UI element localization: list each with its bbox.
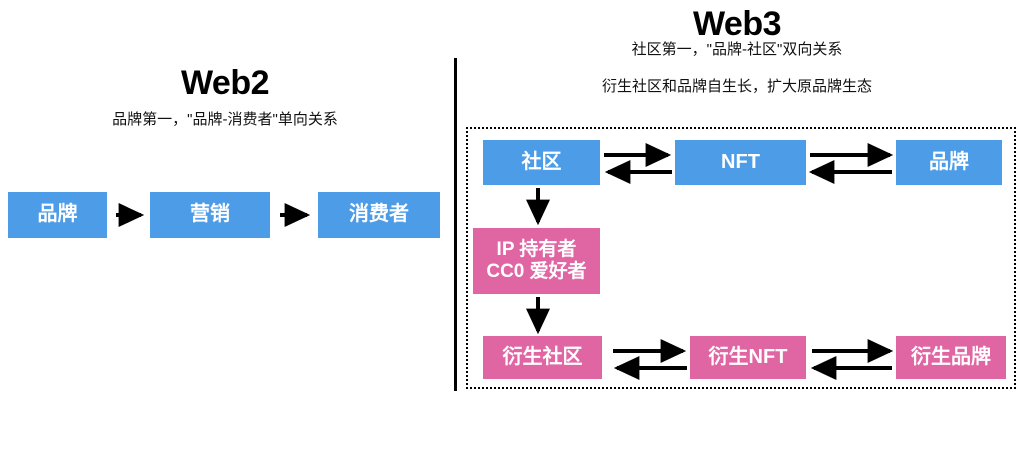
web3-node-community-label: 社区 [522, 151, 562, 175]
web3-node-brand[interactable]: 品牌 [896, 140, 1002, 185]
web3-node-derivative-nft[interactable]: 衍生NFT [690, 336, 806, 379]
web2-node-brand-label: 品牌 [38, 203, 78, 227]
web2-node-consumer[interactable]: 消费者 [318, 192, 440, 238]
web3-node-derivative-community[interactable]: 衍生社区 [483, 336, 602, 379]
web3-node-derivative-brand-label: 衍生品牌 [911, 346, 991, 370]
web2-subtitle: 品牌第一，"品牌-消费者"单向关系 [0, 108, 450, 129]
web2-panel: Web2 品牌第一，"品牌-消费者"单向关系 品牌 营销 消费者 [0, 0, 455, 452]
diagram-canvas: Web2 品牌第一，"品牌-消费者"单向关系 品牌 营销 消费者 Web3 社区… [0, 0, 1024, 452]
web3-node-ip-holders-line-2: CC0 爱好者 [486, 261, 586, 283]
web3-node-nft-label: NFT [721, 151, 760, 175]
web2-title: Web2 [0, 64, 450, 103]
web2-node-consumer-label: 消费者 [349, 203, 409, 227]
web3-node-derivative-community-label: 衍生社区 [503, 346, 583, 370]
web3-node-derivative-nft-label: 衍生NFT [709, 346, 788, 370]
web2-node-marketing[interactable]: 营销 [150, 192, 270, 238]
web2-node-brand[interactable]: 品牌 [8, 192, 107, 238]
web3-node-ip-holders-line-1: IP 持有者 [497, 239, 577, 261]
web3-node-brand-label: 品牌 [929, 151, 969, 175]
web3-subtitle-line-1: 社区第一，"品牌-社区"双向关系 [457, 38, 1017, 59]
web3-node-ip-holders[interactable]: IP 持有者 CC0 爱好者 [473, 228, 600, 294]
web3-node-nft[interactable]: NFT [675, 140, 806, 185]
web2-node-marketing-label: 营销 [190, 203, 230, 227]
web3-node-community[interactable]: 社区 [483, 140, 600, 185]
web3-subtitle-line-2: 衍生社区和品牌自生长，扩大原品牌生态 [457, 75, 1017, 96]
web3-node-derivative-brand[interactable]: 衍生品牌 [896, 336, 1006, 379]
